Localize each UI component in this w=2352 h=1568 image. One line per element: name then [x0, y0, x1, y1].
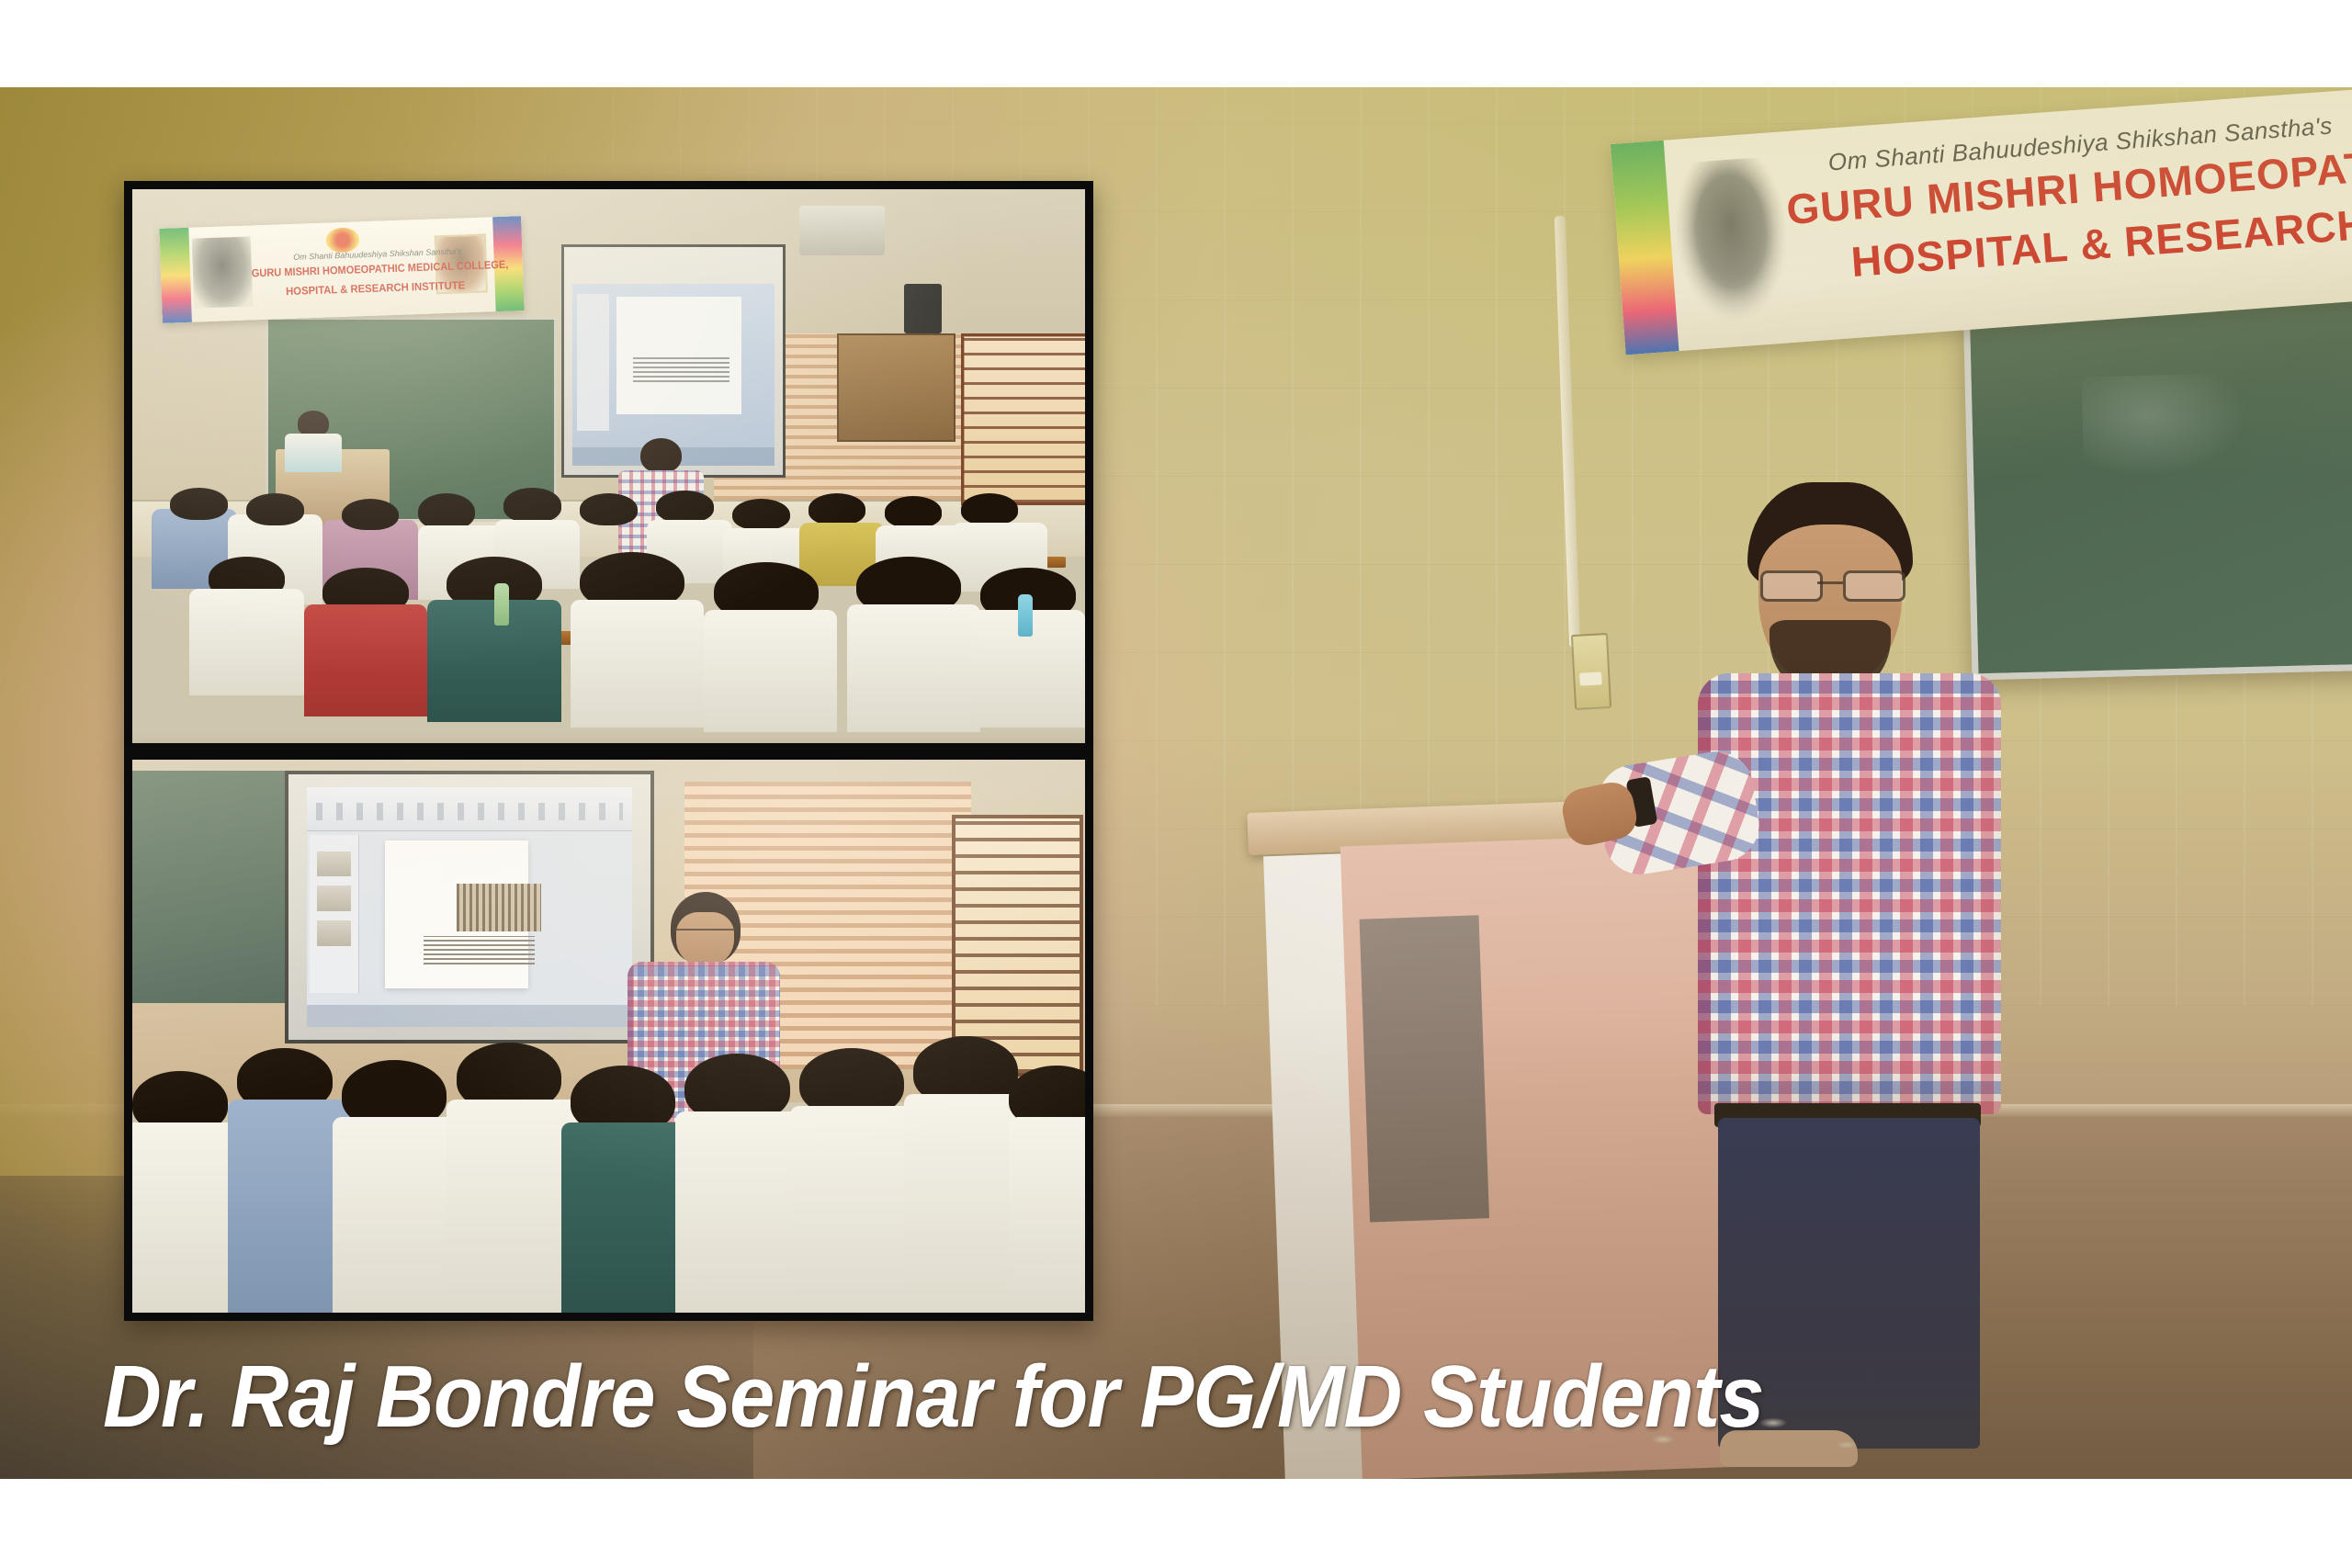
classroom-scene — [132, 760, 1085, 1313]
panel-thumbnail — [317, 852, 351, 876]
wall-cabinet — [837, 333, 955, 443]
seated-students — [132, 478, 1085, 743]
student-head — [885, 496, 942, 528]
application-ribbon — [307, 787, 633, 831]
slide-sidebar — [577, 294, 609, 432]
repertory-chart — [457, 884, 541, 931]
page-margin-bottom — [0, 1479, 2352, 1568]
slide-caption: Dr. Raj Bondre Seminar for PG/MD Student… — [103, 1350, 2131, 1444]
panel-thumbnail — [317, 886, 351, 910]
student-body — [571, 600, 704, 728]
glasses-lens-left — [1760, 570, 1823, 602]
student-head — [808, 493, 865, 525]
student-body — [847, 604, 980, 732]
panel-thumbnail — [317, 920, 351, 945]
student-body — [675, 1111, 808, 1313]
presenter-at-podium — [285, 411, 342, 471]
hahnemann-portrait-icon — [1671, 155, 1792, 323]
slide-canvas: Om Shanti Bahuudeshiya Shikshan Sanstha'… — [0, 0, 2352, 1568]
student-body — [561, 1122, 695, 1313]
institute-banner: Om Shanti Bahuudeshiya Shikshan Sanstha'… — [159, 216, 524, 322]
student-head — [503, 488, 560, 523]
student-body — [447, 1100, 580, 1313]
student-body — [304, 604, 428, 716]
student-body — [704, 610, 837, 732]
speaker-glasses-icon — [1755, 570, 1907, 596]
student-head — [656, 491, 713, 523]
green-chalkboard — [132, 771, 288, 1003]
student-head — [961, 493, 1018, 525]
chalk-smudge — [2082, 373, 2250, 478]
page-margin-top — [0, 0, 2352, 87]
glasses-bridge — [1817, 581, 1843, 584]
ceiling-projector — [799, 206, 885, 255]
slide-text-lines — [633, 355, 729, 381]
application-status-bar — [307, 1005, 633, 1026]
projection-screen-software — [285, 771, 654, 1043]
presenter-body — [285, 434, 342, 471]
glasses-lens-right — [1843, 570, 1905, 602]
student-head — [342, 499, 399, 531]
student-head — [170, 488, 227, 520]
water-bottle — [494, 583, 509, 626]
classroom-scene: Om Shanti Bahuudeshiya Shikshan Sanstha'… — [132, 189, 1085, 743]
hahnemann-portrait-icon — [192, 237, 253, 309]
speaker-glasses-icon — [675, 929, 736, 942]
standing-speaker-head — [640, 438, 682, 473]
student-body — [790, 1106, 923, 1313]
inset-photo-speaker-address — [124, 751, 1093, 1321]
student-head — [580, 493, 637, 525]
seminar-speaker — [1681, 482, 2067, 1474]
document-text-lines — [424, 936, 535, 964]
wall-speaker-box — [904, 284, 942, 333]
presenter-head — [298, 411, 330, 436]
wall-light-switch — [1571, 633, 1611, 710]
student-head — [246, 493, 303, 525]
projected-slide — [572, 284, 774, 447]
speaker-checkered-shirt — [1698, 673, 2001, 1114]
banner-line-2: HOSPITAL & RESEARCH INSTITUTE — [256, 277, 495, 299]
seated-students — [132, 1025, 1085, 1313]
banner-stripe-left — [159, 228, 191, 323]
water-bottle — [1018, 594, 1033, 637]
student-body — [189, 589, 303, 695]
inset-photo-classroom-wide: Om Shanti Bahuudeshiya Shikshan Sanstha'… — [124, 181, 1093, 751]
student-body — [1009, 1117, 1093, 1313]
student-body — [333, 1117, 466, 1313]
student-head — [732, 499, 789, 531]
projected-application — [307, 787, 633, 1026]
application-side-panel — [310, 835, 359, 993]
podium-shelf — [1360, 915, 1489, 1222]
